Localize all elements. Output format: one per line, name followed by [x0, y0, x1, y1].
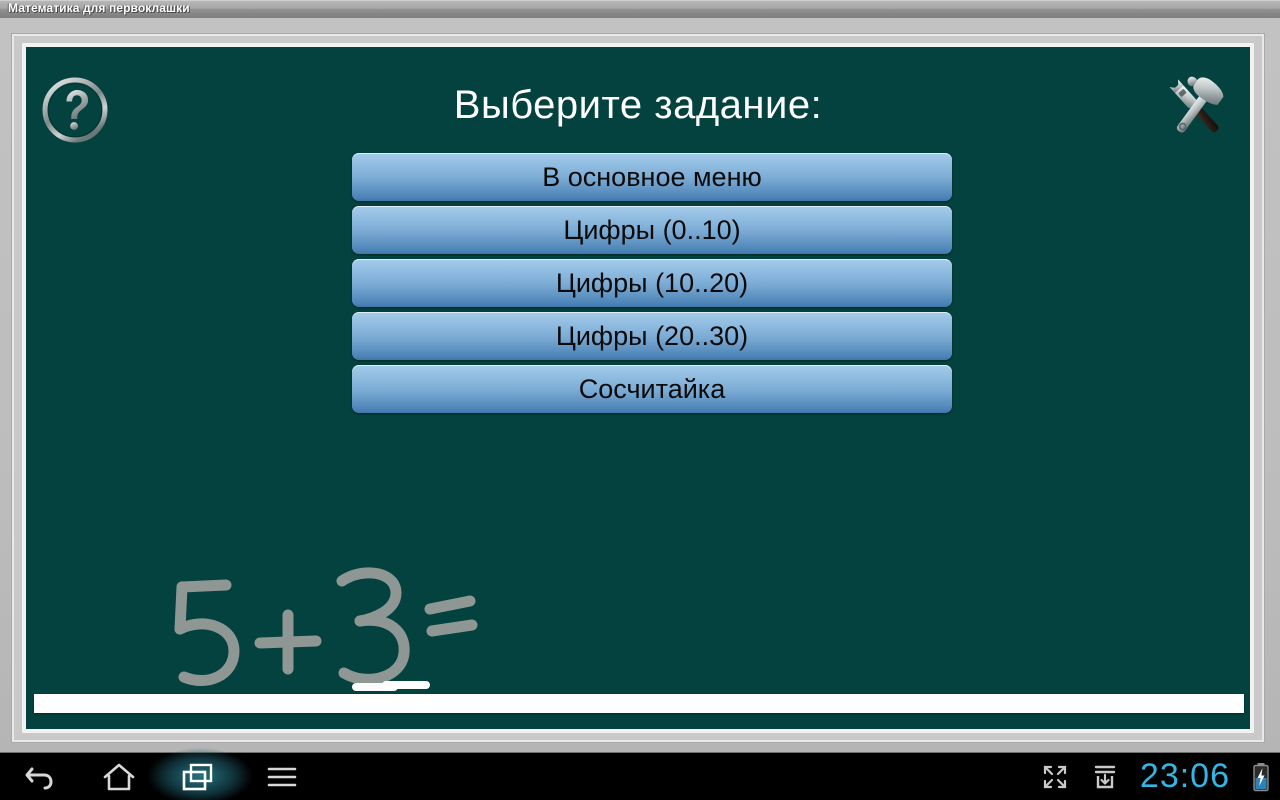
- battery-charging-icon: [1251, 762, 1271, 792]
- menu-button[interactable]: [243, 753, 321, 800]
- digits-0-10-button[interactable]: Цифры (0..10): [352, 206, 952, 254]
- chalk-piece-icon: [352, 680, 430, 692]
- digits-10-20-button[interactable]: Цифры (10..20): [352, 259, 952, 307]
- board-inner-frame: Выберите задание: В основное меню Цифры …: [22, 43, 1254, 733]
- navbar-status-group: 23:06: [1030, 753, 1280, 800]
- board-outer-frame: Выберите задание: В основное меню Цифры …: [12, 34, 1264, 742]
- chalk-stick: [352, 679, 430, 691]
- screenshot-download-icon: [1092, 763, 1118, 791]
- screen-root: Математика для первоклашки: [0, 0, 1280, 800]
- back-arrow-icon: [22, 762, 56, 792]
- back-button[interactable]: [0, 753, 78, 800]
- fullscreen-icon: [1042, 764, 1068, 790]
- window-titlebar: Математика для первоклашки: [0, 0, 1280, 18]
- page-title: Выберите задание:: [26, 83, 1250, 128]
- main-menu-button[interactable]: В основное меню: [352, 153, 952, 201]
- chalk-equation-icon: [156, 537, 536, 717]
- battery-indicator: [1242, 753, 1280, 800]
- app-area: Выберите задание: В основное меню Цифры …: [0, 18, 1280, 752]
- home-button[interactable]: [80, 753, 158, 800]
- chalkboard: Выберите задание: В основное меню Цифры …: [26, 47, 1250, 729]
- menu-icon: [266, 764, 298, 790]
- status-clock: 23:06: [1130, 753, 1242, 800]
- chalk-tray: [34, 694, 1244, 713]
- android-navbar: 23:06: [0, 752, 1280, 800]
- window-title: Математика для первоклашки: [8, 1, 190, 15]
- counting-button[interactable]: Сосчитайка: [352, 365, 952, 413]
- chalk-drawing: [156, 537, 536, 717]
- task-menu: В основное меню Цифры (0..10) Цифры (10.…: [352, 153, 952, 418]
- recent-apps-icon: [181, 761, 217, 793]
- home-icon: [102, 761, 136, 793]
- recent-apps-button[interactable]: [160, 753, 238, 800]
- fullscreen-button[interactable]: [1030, 753, 1080, 800]
- digits-20-30-button[interactable]: Цифры (20..30): [352, 312, 952, 360]
- screenshot-button[interactable]: [1080, 753, 1130, 800]
